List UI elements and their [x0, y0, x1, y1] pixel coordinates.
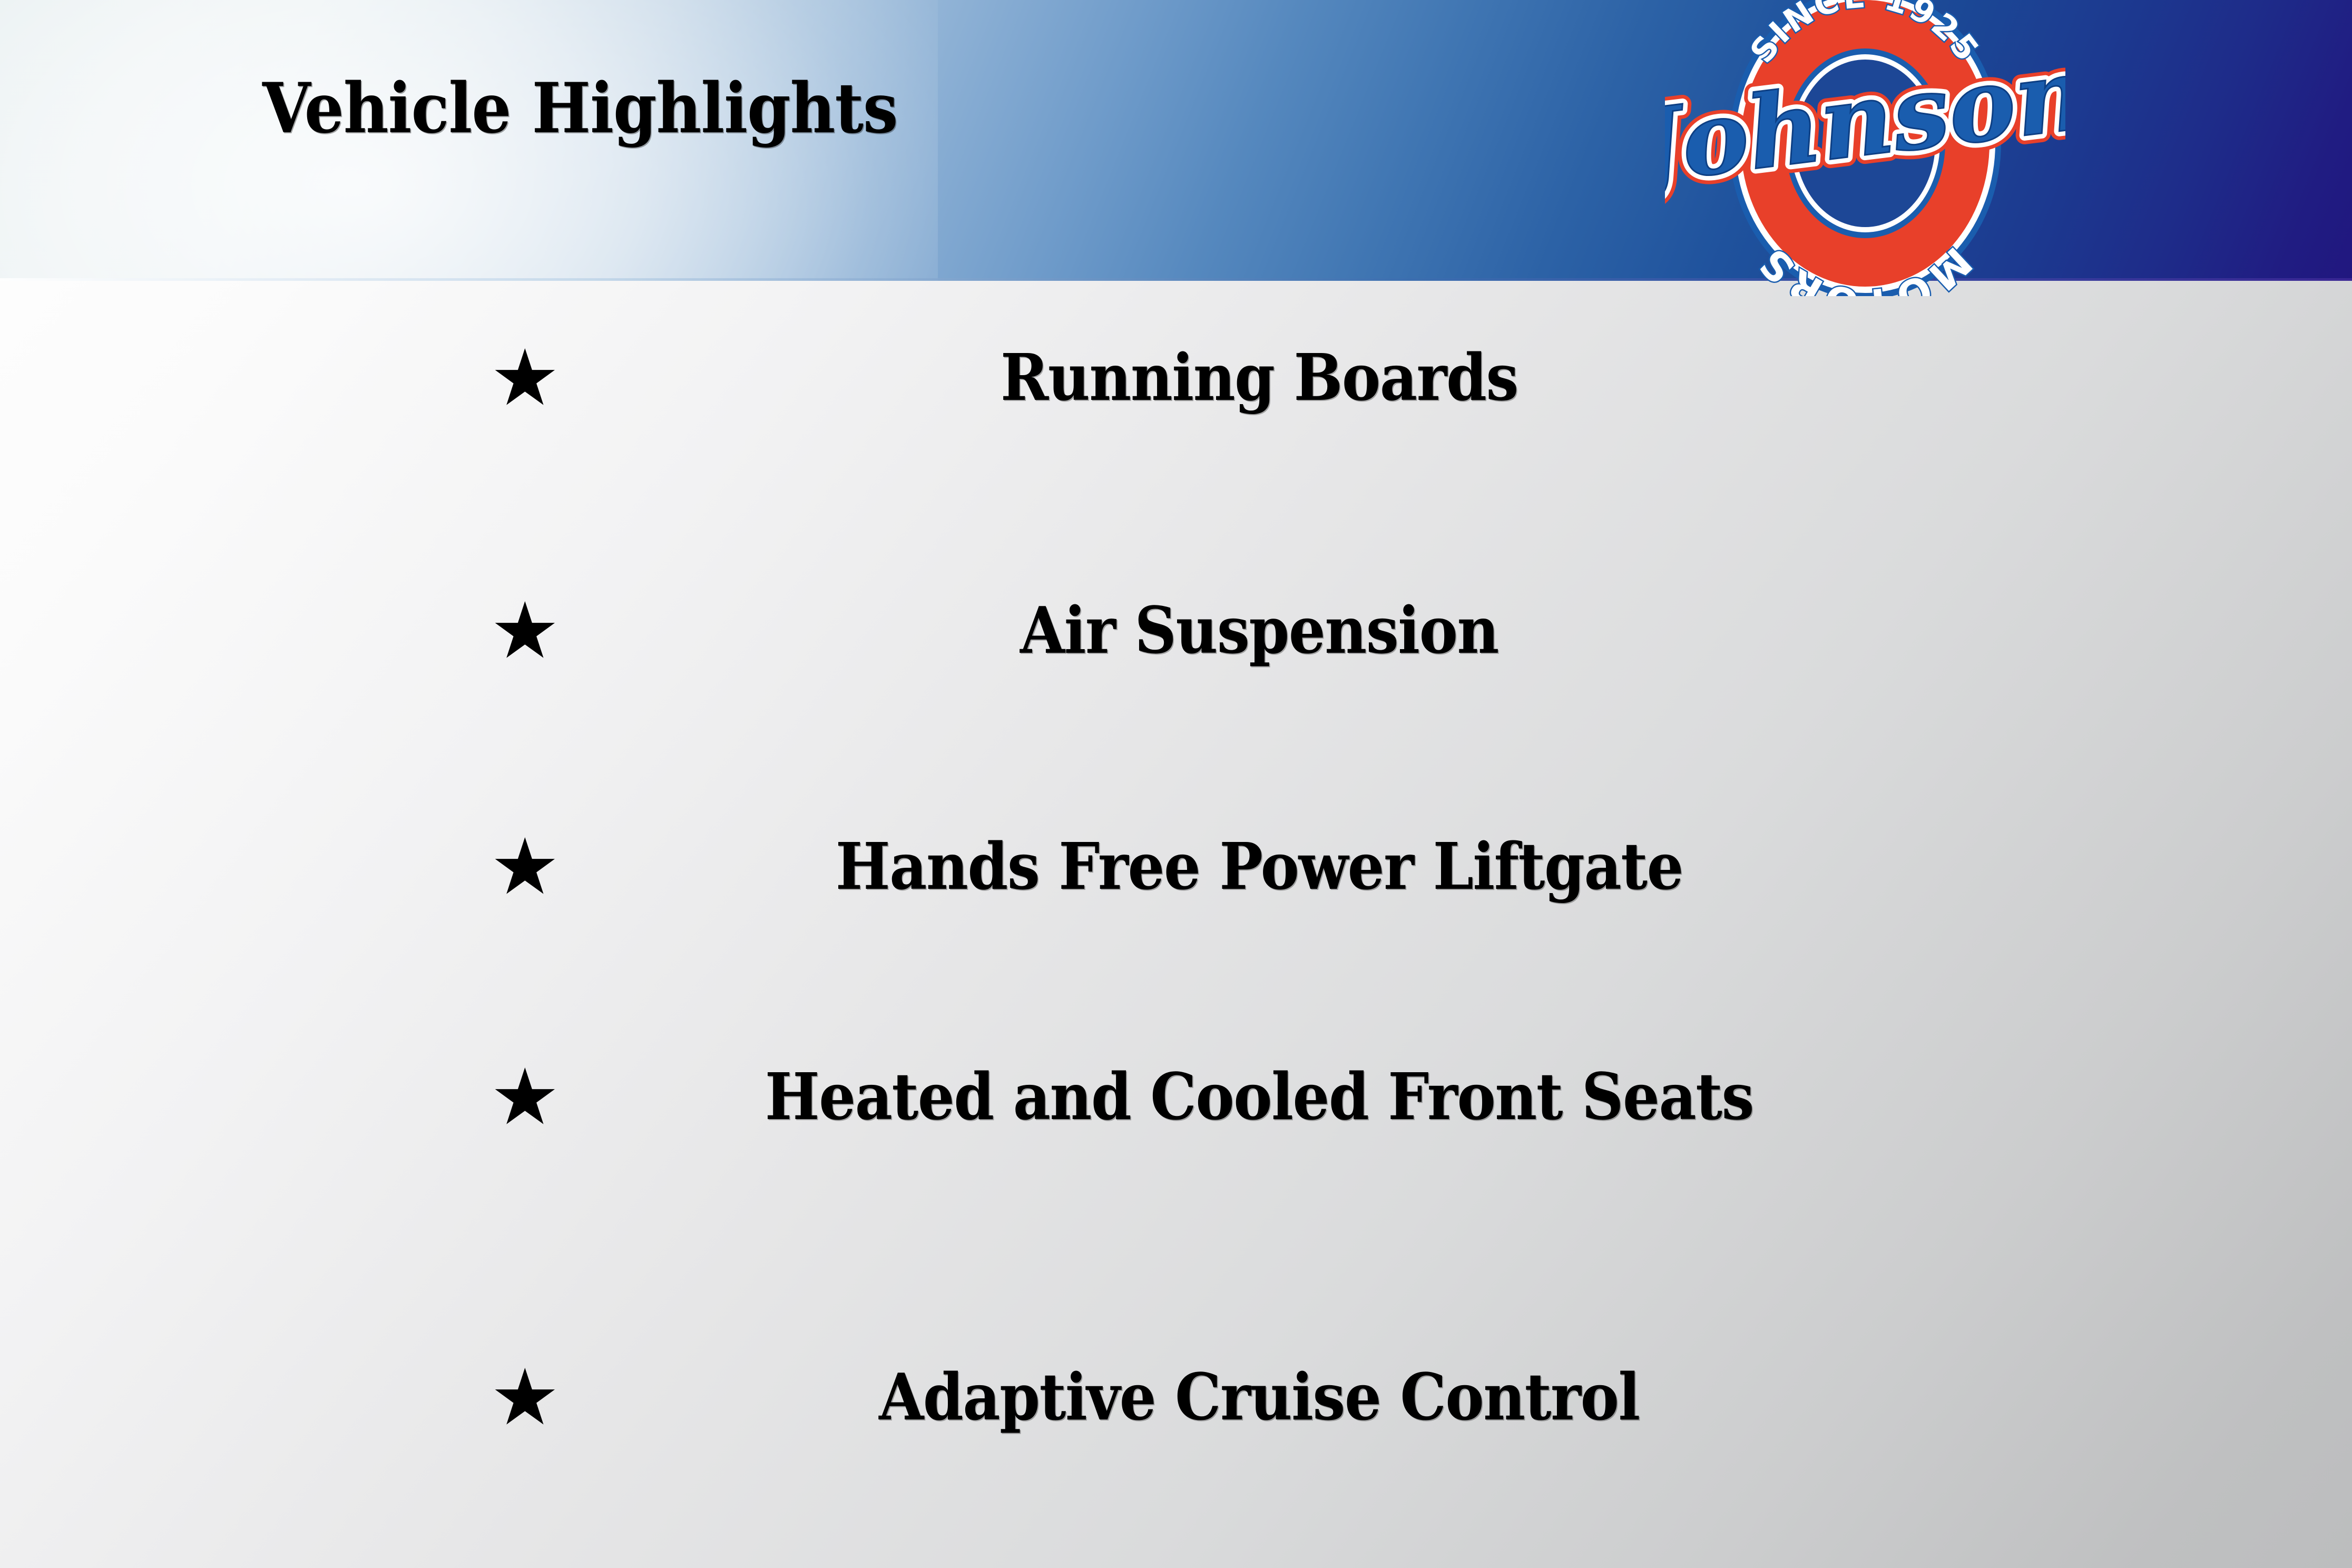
star-icon: ★ [490, 1358, 616, 1436]
star-icon: ★ [490, 592, 616, 670]
johnson-motors-logo: SINCE 1925 MOTORS Johnson Johnson Johnso… [1665, 0, 2065, 296]
page-title: Vehicle Highlights [262, 74, 898, 143]
list-item: ★ Hands Free Power Liftgate [490, 828, 1902, 906]
highlight-label: Air Suspension [681, 593, 1838, 668]
presentation-slide: Vehicle Highlights SINCE 1925 [0, 0, 2352, 1568]
list-item: ★ Adaptive Cruise Control [490, 1358, 1902, 1436]
list-item: ★ Running Boards [490, 339, 1902, 417]
list-item: ★ Heated and Cooled Front Seats [490, 1058, 1902, 1136]
highlight-label: Adaptive Cruise Control [681, 1360, 1838, 1435]
star-icon: ★ [490, 1058, 616, 1136]
star-icon: ★ [490, 339, 616, 417]
highlights-list: ★ Running Boards ★ Air Suspension ★ Hand… [0, 281, 2352, 1568]
star-icon: ★ [490, 828, 616, 906]
highlight-label: Hands Free Power Liftgate [681, 829, 1838, 904]
highlight-label: Heated and Cooled Front Seats [681, 1060, 1838, 1134]
list-item: ★ Air Suspension [490, 592, 1902, 670]
highlight-label: Running Boards [681, 340, 1838, 415]
